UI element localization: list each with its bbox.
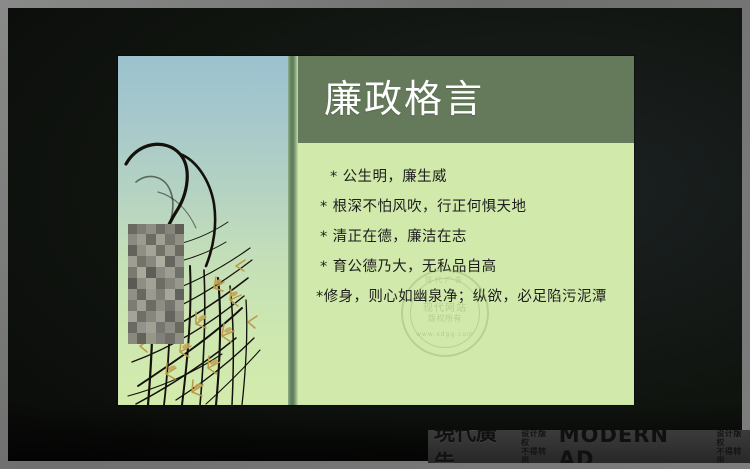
slide-header-band: 廉政格言 — [298, 56, 634, 143]
slide-vertical-divider — [288, 56, 298, 405]
maxim-line: * 公生明，廉生威 — [298, 168, 634, 186]
watermark-notice-left: 设计版权 不得转用 — [517, 430, 555, 463]
slide-photo-reeds — [118, 56, 288, 405]
watermark-notice-line1: 设计版权 — [521, 430, 555, 447]
maxim-line: * 育公德乃大，无私品自高 — [298, 258, 634, 276]
watermark-notice2-line1: 设计版权 — [716, 430, 750, 447]
dark-stage-background: 廉政格言 * 公生明，廉生威 * 根深不怕风吹，行正何惧天地 * 清正在德，廉洁… — [8, 8, 742, 461]
presentation-slide: 廉政格言 * 公生明，廉生威 * 根深不怕风吹，行正何惧天地 * 清正在德，廉洁… — [118, 56, 634, 405]
maxim-line: * 清正在德，廉洁在志 — [298, 228, 634, 246]
maxim-line: * 根深不怕风吹，行正何惧天地 — [298, 198, 634, 216]
bottom-watermark-bar: 現代廣告 设计版权 不得转用 MODERN AD 设计版权 不得转用 — [428, 430, 750, 463]
page-title: 廉政格言 — [324, 77, 484, 121]
watermark-brand-en: MODERN AD — [559, 430, 712, 463]
watermark-brand-cn: 現代廣告 — [434, 430, 517, 463]
pixelated-censor-block — [128, 224, 184, 344]
watermark-notice-line2: 不得转用 — [521, 447, 555, 464]
watermark-notice2-line2: 不得转用 — [716, 447, 750, 464]
outer-photo-frame: 廉政格言 * 公生明，廉生威 * 根深不怕风吹，行正何惧天地 * 清正在德，廉洁… — [0, 0, 750, 469]
maxim-line: *修身，则心如幽泉净；纵欲，必足陷污泥潭 — [298, 288, 634, 306]
slide-body: * 公生明，廉生威 * 根深不怕风吹，行正何惧天地 * 清正在德，廉洁在志 * … — [298, 143, 634, 405]
watermark-notice-right: 设计版权 不得转用 — [711, 430, 750, 463]
